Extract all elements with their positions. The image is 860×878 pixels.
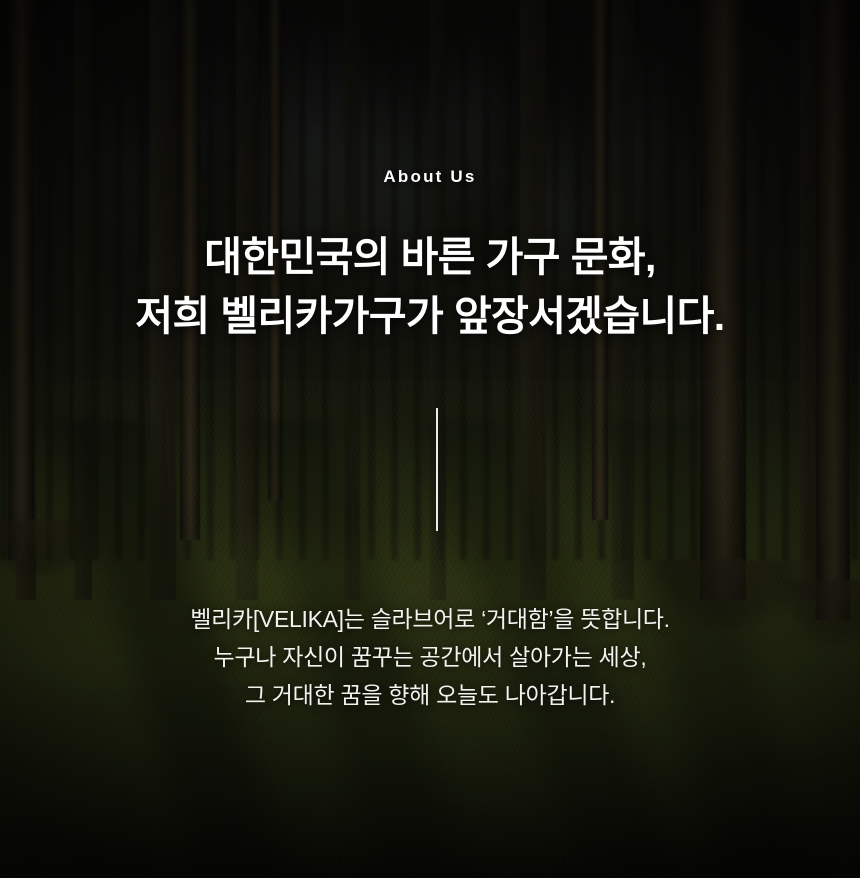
page-title: 대한민국의 바른 가구 문화, 저희 벨리카가구가 앞장서겠습니다. <box>0 228 860 346</box>
about-us-hero-banner: About Us 대한민국의 바른 가구 문화, 저희 벨리카가구가 앞장서겠습… <box>0 0 860 878</box>
brand-description-line-2: 누구나 자신이 꿈꾸는 공간에서 살아가는 세상, <box>0 638 860 676</box>
hero-content: About Us 대한민국의 바른 가구 문화, 저희 벨리카가구가 앞장서겠습… <box>0 0 860 878</box>
brand-description-line-1: 벨리카[VELIKA]는 슬라브어로 ‘거대함’을 뜻합니다. <box>0 600 860 638</box>
brand-description-line-3: 그 거대한 꿈을 향해 오늘도 나아갑니다. <box>0 676 860 714</box>
section-eyebrow-label: About Us <box>0 167 860 187</box>
brand-description: 벨리카[VELIKA]는 슬라브어로 ‘거대함’을 뜻합니다. 누구나 자신이 … <box>0 600 860 714</box>
page-title-line-1: 대한민국의 바른 가구 문화, <box>0 228 860 287</box>
vertical-divider <box>436 408 438 531</box>
page-title-line-2: 저희 벨리카가구가 앞장서겠습니다. <box>0 287 860 346</box>
